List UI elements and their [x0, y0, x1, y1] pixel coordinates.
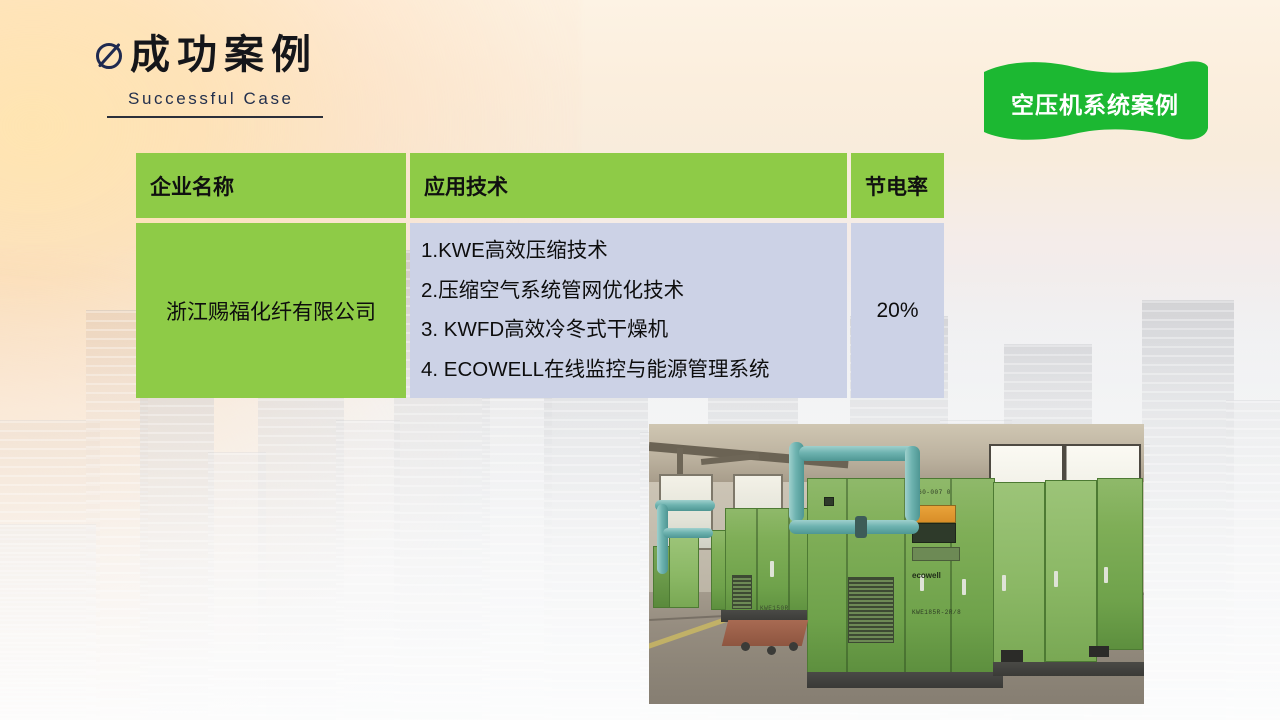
technology-item: 4. ECOWELL在线监控与能源管理系统	[421, 350, 847, 390]
case-table: 企业名称 应用技术 节电率 浙江赐福化纤有限公司 1.KWE高效压缩技术 2.压…	[136, 153, 940, 398]
photo-compressor-main: 060-007 0 ecowell KWE185R-2R/8	[807, 478, 995, 674]
photo-compressor-far	[669, 536, 699, 608]
case-photo: KWE150R 060-007 0 ecowell KWE185R-2R/8	[649, 424, 1144, 704]
table-header-row: 企业名称 应用技术 节电率	[136, 153, 940, 218]
photo-cabinet	[993, 482, 1045, 672]
technology-item: 1.KWE高效压缩技术	[421, 232, 847, 272]
photo-vent-box	[1089, 646, 1109, 657]
photo-pipe-far-2	[663, 528, 713, 538]
photo-cart-wheel	[741, 642, 750, 651]
title-row: 成功案例	[92, 34, 323, 76]
photo-pipe-lower	[789, 520, 919, 534]
photo-pipe-far-down	[657, 504, 668, 574]
table-header-company: 企业名称	[136, 153, 406, 218]
photo-machine-label-mid: KWE185R-2R/8	[912, 609, 961, 616]
circle-slash-icon	[92, 38, 126, 72]
photo-pipe-horizontal	[799, 446, 919, 461]
title-underline	[107, 116, 323, 118]
table-cell-saving-rate: 20%	[851, 223, 944, 398]
table-cell-technology-list: 1.KWE高效压缩技术 2.压缩空气系统管网优化技术 3. KWFD高效冷冬式干…	[410, 223, 847, 398]
photo-cabinet	[1045, 480, 1097, 662]
page-title: 成功案例	[130, 34, 318, 76]
photo-cabinet-base	[993, 662, 1144, 676]
technology-item: 2.压缩空气系统管网优化技术	[421, 271, 847, 311]
photo-vent-box	[1001, 650, 1023, 662]
photo-cabinet	[1097, 478, 1143, 650]
table-cell-company: 浙江赐福化纤有限公司	[136, 223, 406, 398]
photo-compressor-base	[807, 672, 1003, 688]
photo-machine-brand: ecowell	[912, 571, 941, 580]
slide-canvas: 成功案例 Successful Case 空压机系统案例 企业名称 应用技术 节…	[0, 0, 1280, 720]
ribbon-label: 空压机系统案例	[978, 86, 1212, 120]
photo-pipe-flange	[855, 516, 867, 538]
page-subtitle: Successful Case	[128, 89, 323, 109]
table-header-saving-rate: 节电率	[851, 153, 944, 218]
photo-cart-wheel	[767, 646, 776, 655]
section-ribbon-badge: 空压机系统案例	[978, 58, 1212, 142]
table-header-technology: 应用技术	[410, 153, 847, 218]
photo-pipe-down	[905, 446, 920, 522]
technology-item: 3. KWFD高效冷冬式干燥机	[421, 311, 847, 351]
table-row: 浙江赐福化纤有限公司 1.KWE高效压缩技术 2.压缩空气系统管网优化技术 3.…	[136, 223, 940, 398]
photo-cart-wheel	[789, 642, 798, 651]
page-title-block: 成功案例 Successful Case	[92, 34, 323, 118]
